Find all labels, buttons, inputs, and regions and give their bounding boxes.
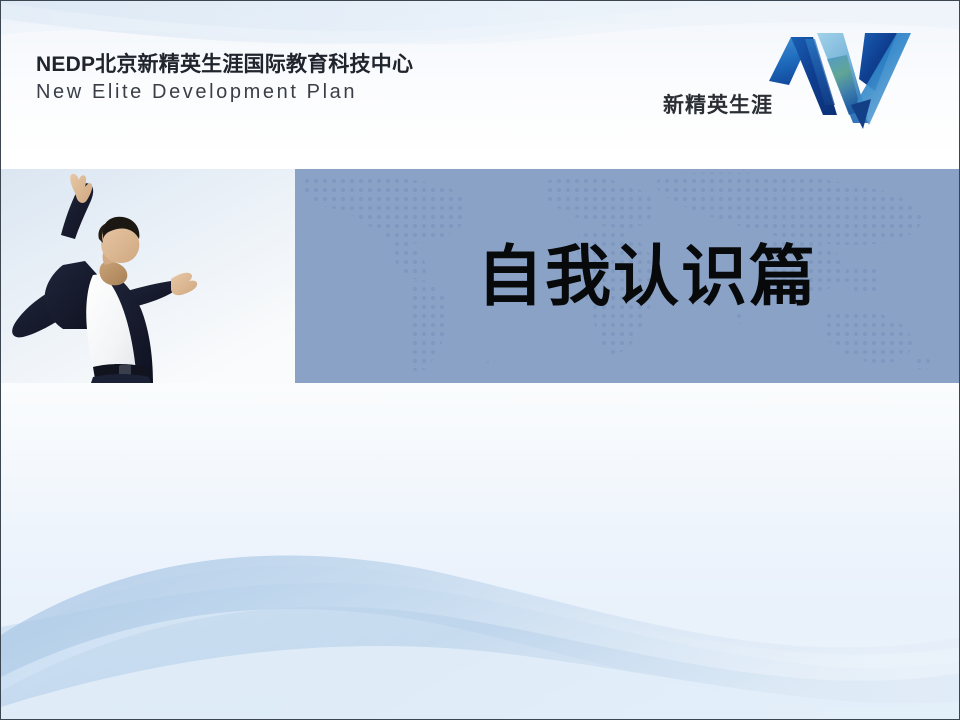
photo-illustration xyxy=(1,169,295,383)
organization-name-cn: NEDP北京新精英生涯国际教育科技中心 xyxy=(36,53,413,77)
organization-title-block: NEDP北京新精英生涯国际教育科技中心 New Elite Developmen… xyxy=(36,53,413,104)
logo-wordmark: 新精英生涯 xyxy=(663,89,773,119)
slide-content-area xyxy=(1,383,960,720)
nedp-n-v-logo-icon xyxy=(765,19,915,139)
presentation-slide: NEDP北京新精英生涯国际教育科技中心 New Elite Developmen… xyxy=(0,0,960,720)
page-title: 自我认识篇 xyxy=(295,243,960,309)
title-banner: 自我认识篇 xyxy=(1,169,960,383)
brand-logo: 新精英生涯 xyxy=(663,19,933,144)
title-panel: 自我认识篇 xyxy=(295,169,960,383)
organization-name-en: New Elite Development Plan xyxy=(36,81,413,104)
slide-header: NEDP北京新精英生涯国际教育科技中心 New Elite Developmen… xyxy=(1,1,960,169)
man-arms-outstretched-photo xyxy=(1,169,295,383)
